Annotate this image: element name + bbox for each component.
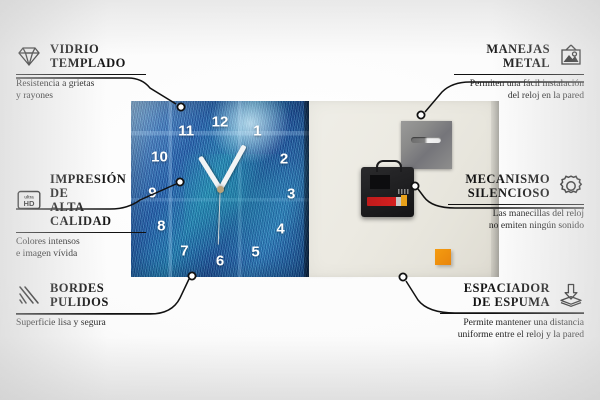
callout-espaciador-de-espuma: ESPACIADOR DE ESPUMA Permite mantener un… — [440, 281, 584, 340]
clock-numeral-6: 6 — [216, 254, 224, 269]
clock-face-panel: 12 1 2 3 4 5 6 7 8 9 10 11 — [131, 101, 309, 277]
clock-numeral-7: 7 — [180, 243, 188, 258]
wall-hanging-frame-icon — [558, 43, 584, 69]
clock-numeral-8: 8 — [157, 218, 165, 233]
callout-vidrio-templado: VIDRIO TEMPLADO Resistencia a grietas y … — [16, 42, 146, 101]
battery-terminal — [401, 195, 407, 206]
product-image: 12 1 2 3 4 5 6 7 8 9 10 11 — [131, 101, 499, 277]
callout-rule — [16, 313, 156, 314]
callout-description: Colores intensos e imagen vívida — [16, 236, 146, 259]
metal-hanger-plate — [401, 121, 452, 169]
callout-header: BORDES PULIDOS — [16, 281, 156, 309]
callout-title: ESPACIADOR DE ESPUMA — [464, 281, 550, 309]
callout-header: MECANISMO SILENCIOSO — [448, 172, 584, 200]
clock-numeral-5: 5 — [251, 245, 259, 260]
clock-numeral-4: 4 — [276, 222, 284, 237]
callout-header: ESPACIADOR DE ESPUMA — [440, 281, 584, 309]
mechanism-slot — [370, 175, 390, 189]
clock-numeral-3: 3 — [287, 187, 295, 202]
hands-center-cap — [217, 186, 224, 193]
callout-header: ultra HD IMPRESIÓN DE ALTA CALIDAD — [16, 172, 146, 228]
callout-description: Permiten una fácil instalación del reloj… — [454, 78, 584, 101]
clock-numeral-12: 12 — [212, 115, 229, 130]
callout-mecanismo-silencioso: MECANISMO SILENCIOSO Las manecillas del … — [448, 172, 584, 231]
callout-description: Permite mantener una distancia uniforme … — [440, 317, 584, 340]
diamond-icon — [16, 43, 42, 69]
callout-rule — [16, 74, 146, 75]
callout-description: Resistencia a grietas y rayones — [16, 78, 146, 101]
callout-impresion-alta-calidad: ultra HD IMPRESIÓN DE ALTA CALIDAD Color… — [16, 172, 146, 259]
callout-title: MECANISMO SILENCIOSO — [465, 172, 550, 200]
foam-spacer-arrow-icon — [558, 282, 584, 308]
callout-bordes-pulidos: BORDES PULIDOS Superficie lisa y segura — [16, 281, 156, 329]
callout-rule — [440, 313, 584, 314]
callout-manejas-metal: MANEJAS METAL Permiten una fácil instala… — [454, 42, 584, 101]
polished-edges-icon — [16, 282, 42, 308]
svg-text:HD: HD — [24, 199, 35, 208]
clock-numeral-1: 1 — [253, 123, 261, 138]
callout-description: Las manecillas del reloj no emiten ningú… — [448, 208, 584, 231]
ultra-hd-icon: ultra HD — [16, 187, 42, 213]
callout-header: VIDRIO TEMPLADO — [16, 42, 146, 70]
mechanism-hanger-loop — [376, 160, 402, 172]
quartz-mechanism-box — [361, 167, 414, 217]
callout-rule — [16, 232, 146, 233]
callout-title: VIDRIO TEMPLADO — [50, 42, 126, 70]
callout-description: Superficie lisa y segura — [16, 317, 156, 329]
hanger-slot — [411, 137, 441, 143]
callout-title: IMPRESIÓN DE ALTA CALIDAD — [50, 172, 146, 228]
foam-spacer — [435, 249, 451, 265]
callout-header: MANEJAS METAL — [454, 42, 584, 70]
callout-title: BORDES PULIDOS — [50, 281, 109, 309]
callout-rule — [454, 74, 584, 75]
gear-icon — [558, 173, 584, 199]
infographic-canvas: 12 1 2 3 4 5 6 7 8 9 10 11 — [0, 0, 600, 400]
callout-rule — [448, 204, 584, 205]
clock-numeral-11: 11 — [178, 123, 194, 138]
callout-title: MANEJAS METAL — [486, 42, 550, 70]
clock-numeral-9: 9 — [148, 185, 156, 200]
clock-numeral-2: 2 — [280, 152, 288, 167]
clock-numeral-10: 10 — [151, 150, 168, 165]
mechanism-vents — [398, 189, 410, 194]
